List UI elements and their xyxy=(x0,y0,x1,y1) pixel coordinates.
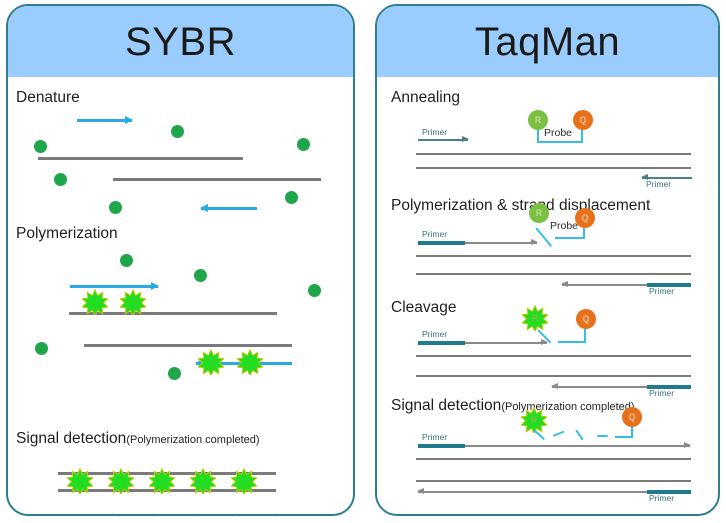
dye-dot xyxy=(120,254,133,267)
fluorescence-burst: R xyxy=(522,305,548,331)
dna-strand xyxy=(416,355,691,357)
dna-strand xyxy=(416,375,691,377)
dna-strand xyxy=(113,178,321,181)
dye-dot xyxy=(35,342,48,355)
cleaved-probe-fragment xyxy=(575,429,584,440)
fluorescence-burst xyxy=(67,468,93,494)
panel-title-sybr: SYBR xyxy=(125,22,236,62)
dna-strand xyxy=(416,255,691,257)
fluorescence-burst xyxy=(190,468,216,494)
nascent-strand-arrow xyxy=(465,342,547,344)
cleaved-probe-fragment xyxy=(597,435,608,437)
nascent-strand-arrow xyxy=(418,491,647,493)
quencher-bead: Q xyxy=(622,407,642,427)
fluorescence-burst xyxy=(182,513,208,516)
nascent-strand-arrow xyxy=(465,242,537,244)
primer-label: Primer xyxy=(422,329,447,339)
step-title-annealing: Annealing xyxy=(391,89,460,107)
dye-dot xyxy=(168,367,181,380)
primer-label: Primer xyxy=(649,286,674,296)
step-title-cleavage: Cleavage xyxy=(391,299,457,317)
dna-strand xyxy=(38,157,243,160)
dye-dot xyxy=(308,284,321,297)
panel-body-sybr: Denature Polymerization xyxy=(8,77,353,516)
dna-strand xyxy=(416,273,691,275)
dna-strand xyxy=(84,344,292,347)
fluorescence-burst xyxy=(141,513,167,516)
dye-dot xyxy=(297,138,310,151)
primer-arrow xyxy=(418,139,468,141)
panel-sybr: SYBR Denature Polymerization xyxy=(6,4,355,516)
primer-label: Primer xyxy=(422,127,447,137)
probe-label: Probe xyxy=(550,220,578,232)
primer-label: Primer xyxy=(649,388,674,398)
fluorescence-burst xyxy=(237,349,263,375)
step-title-signal-detection: Signal detection(Polymerization complete… xyxy=(391,397,635,415)
probe-backbone xyxy=(558,341,586,343)
dye-dot xyxy=(171,125,184,138)
dye-dot xyxy=(34,140,47,153)
fluorescence-burst xyxy=(149,468,175,494)
fluorescence-burst xyxy=(108,468,134,494)
quencher-bead: Q xyxy=(576,309,596,329)
fluorescence-burst xyxy=(264,513,290,516)
polymerase-direction-arrow xyxy=(70,285,158,288)
fluorescence-burst xyxy=(223,513,249,516)
probe-stem-right xyxy=(584,329,586,343)
primer-label: Primer xyxy=(422,229,447,239)
cleaved-probe-fragment xyxy=(553,431,565,437)
nascent-strand-arrow xyxy=(562,284,647,286)
dye-dot xyxy=(194,269,207,282)
quencher-bead: Q xyxy=(573,110,593,130)
panel-body-taqman: Annealing Primer Primer R Q Probe Polyme… xyxy=(377,77,718,516)
nascent-strand-arrow xyxy=(465,445,690,447)
reporter-bead: R xyxy=(529,203,549,223)
polymerase-direction-arrow xyxy=(201,207,257,210)
dna-strand xyxy=(416,153,691,155)
fluorescence-burst xyxy=(231,468,257,494)
step-title-polymerization: Polymerization xyxy=(16,225,118,243)
fluorescence-burst xyxy=(100,513,126,516)
panel-header-taqman: TaqMan xyxy=(377,6,718,77)
primer-segment xyxy=(418,444,465,448)
probe-label: Probe xyxy=(544,127,572,139)
primer-label: Primer xyxy=(649,493,674,503)
step-title-signal-detection: Signal detection(Polymerization complete… xyxy=(16,430,260,448)
fluorescence-burst xyxy=(82,289,108,315)
dna-strand xyxy=(416,167,691,169)
panel-title-taqman: TaqMan xyxy=(475,22,620,62)
polymerase-direction-arrow xyxy=(77,119,132,122)
primer-segment xyxy=(418,241,465,245)
fluorescence-burst xyxy=(120,289,146,315)
panel-taqman: TaqMan Annealing Primer Primer R Q Probe… xyxy=(375,4,720,516)
step-title-polymerization-displacement: Polymerization & strand displacement xyxy=(391,197,650,215)
probe-backbone xyxy=(537,141,583,143)
step-title-denature: Denature xyxy=(16,89,80,107)
panel-header-sybr: SYBR xyxy=(8,6,353,77)
primer-label: Primer xyxy=(422,432,447,442)
dna-strand xyxy=(416,458,691,460)
dye-dot xyxy=(109,201,122,214)
dna-strand xyxy=(416,480,691,482)
primer-segment xyxy=(418,341,465,345)
dye-dot xyxy=(285,191,298,204)
dye-dot xyxy=(54,173,67,186)
fluorescence-burst xyxy=(198,349,224,375)
nascent-strand-arrow xyxy=(552,386,647,388)
probe-backbone xyxy=(555,237,585,239)
primer-label: Primer xyxy=(646,179,671,189)
reporter-letter: R xyxy=(522,305,548,331)
